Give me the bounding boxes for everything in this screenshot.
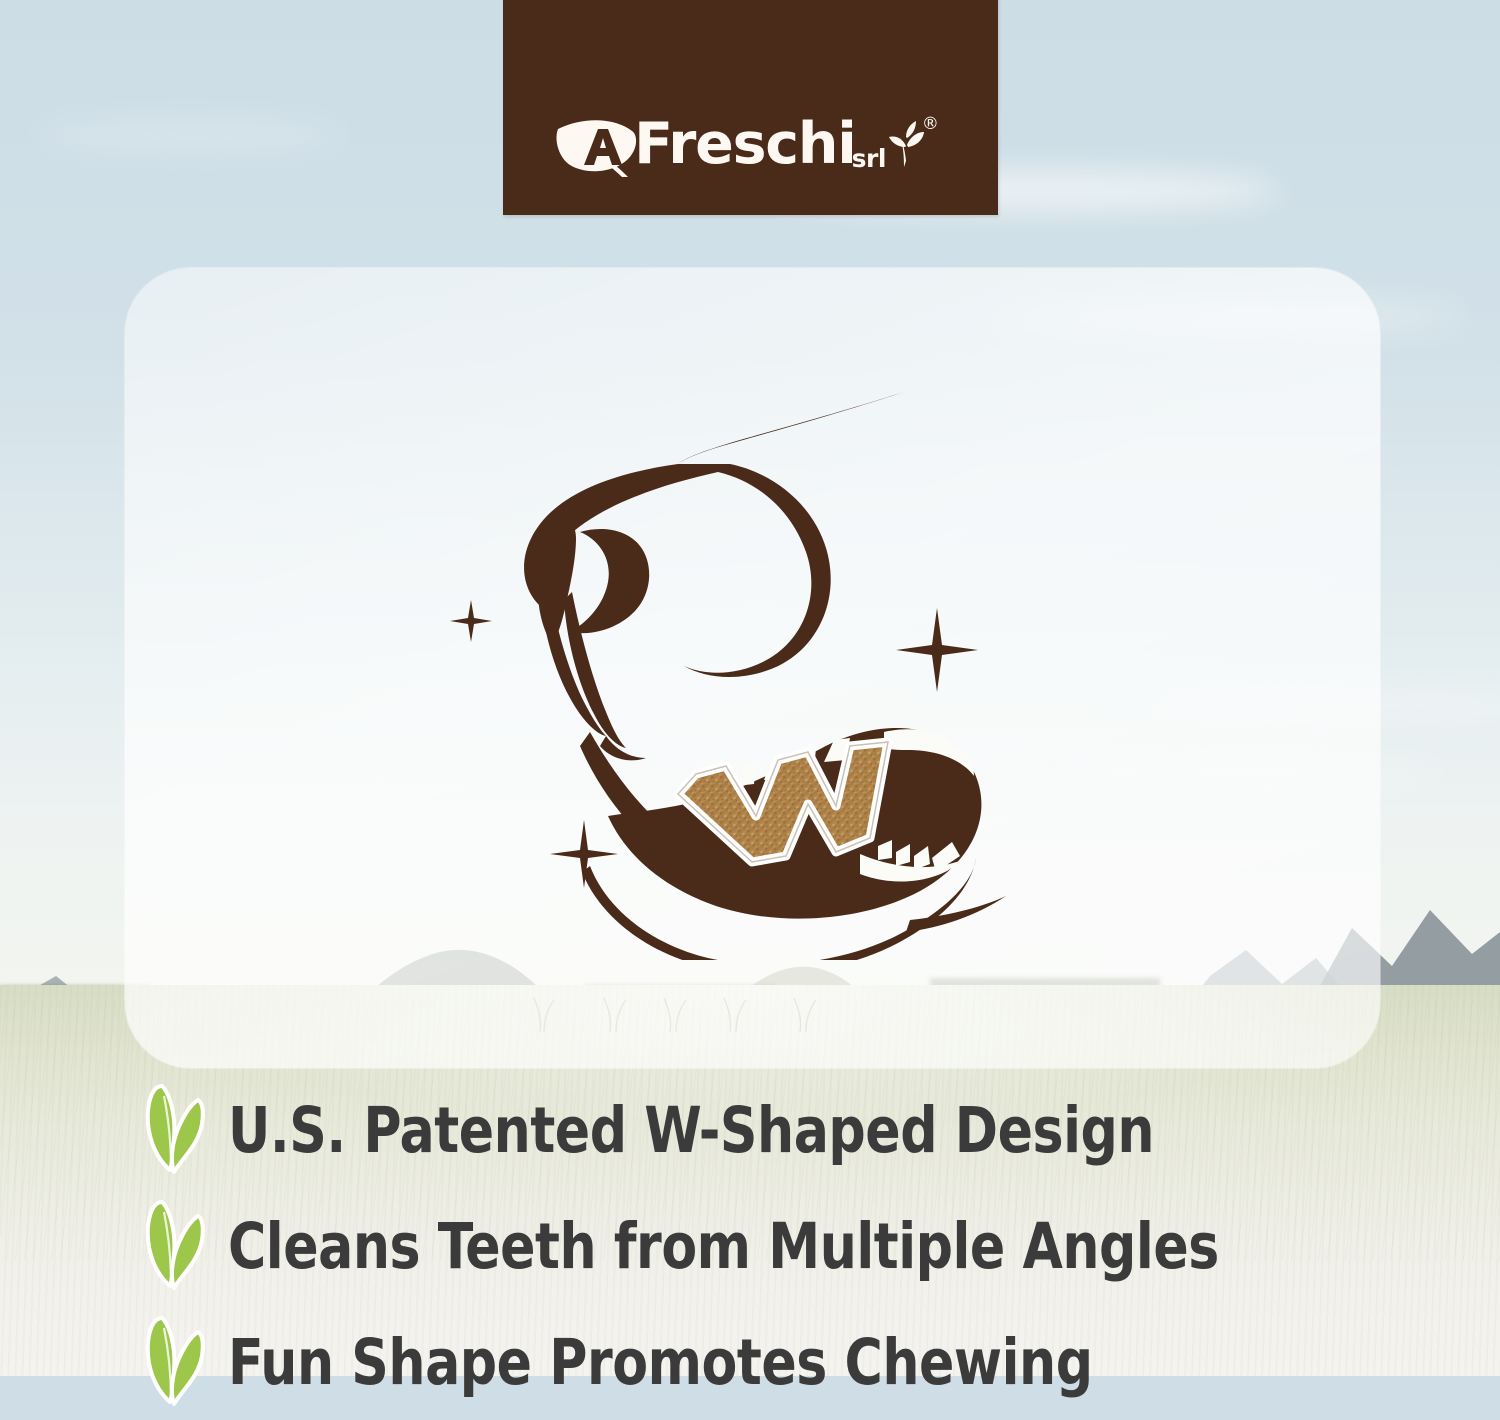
registered-trademark-icon: ® [922, 114, 939, 134]
brand-wordmark: Freschi [634, 116, 856, 173]
leaf-a-mark-icon [556, 115, 640, 177]
list-item: Cleans Teeth from Multiple Angles [140, 1188, 1470, 1304]
snout-upper-jaw [523, 380, 940, 760]
sparkle-icon [896, 608, 978, 692]
list-item-label: U.S. Patented W-Shaped Design [228, 1094, 1154, 1167]
sprout-icon [886, 121, 924, 167]
brand-logo[interactable]: Freschi srl ® [503, 106, 998, 186]
sparkle-icon [450, 600, 492, 642]
leaf-bullet-icon [140, 1084, 206, 1176]
leaf-bullet-icon [140, 1200, 206, 1292]
brand-suffix: srl [852, 144, 886, 173]
feature-list: U.S. Patented W-Shaped Design Cleans Tee… [140, 1072, 1470, 1420]
list-item-label: Fun Shape Promotes Chewing [228, 1326, 1093, 1399]
list-item-label: Cleans Teeth from Multiple Angles [228, 1210, 1219, 1283]
cloud [40, 120, 340, 150]
leaf-bullet-icon [140, 1316, 206, 1408]
brand-header-bar: Freschi srl ® [503, 0, 998, 215]
dog-mouth-illustration [440, 360, 1040, 960]
list-item: Fun Shape Promotes Chewing [140, 1304, 1470, 1420]
list-item: U.S. Patented W-Shaped Design [140, 1072, 1470, 1188]
sparkle-icon [550, 820, 618, 888]
